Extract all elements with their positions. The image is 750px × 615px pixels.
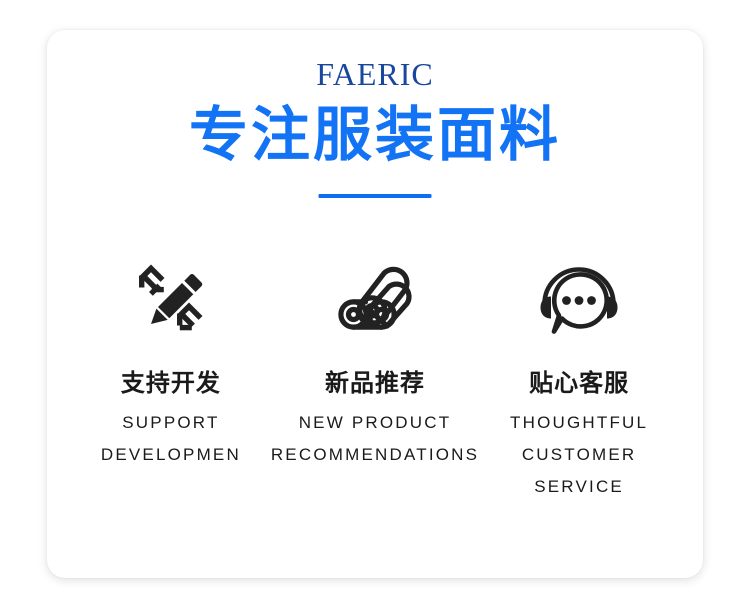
feature-title-en-line: DEVELOPMEN [101,439,241,471]
feature-title-cn: 新品推荐 [325,368,425,398]
feature-title-en-line: THOUGHTFUL [510,407,648,439]
pencil-ruler-icon [125,250,217,342]
promo-card: FAERIC 专注服装面料 [47,30,703,578]
fabric-rolls-icon [329,250,421,342]
feature-title-en: THOUGHTFUL CUSTOMER SERVICE [510,407,648,503]
feature-item-support-development: 支持开发 SUPPORT DEVELOPMEN [71,250,271,471]
feature-title-en: NEW PRODUCT RECOMMENDATIONS [271,407,479,471]
feature-title-en-line: NEW PRODUCT [271,407,479,439]
headset-chat-icon [533,250,625,342]
feature-title-en-line: SERVICE [510,471,648,503]
feature-title-en-line: RECOMMENDATIONS [271,439,479,471]
brand-name: FAERIC [47,55,703,93]
feature-item-new-product: 新品推荐 NEW PRODUCT RECOMMENDATIONS [271,250,479,471]
promo-banner: FAERIC 专注服装面料 [0,0,750,615]
feature-title-en-line: CUSTOMER [510,439,648,471]
title-divider [319,194,432,198]
feature-title-cn: 贴心客服 [529,368,629,398]
feature-item-customer-service: 贴心客服 THOUGHTFUL CUSTOMER SERVICE [479,250,679,503]
feature-title-en-line: SUPPORT [101,407,241,439]
feature-title-cn: 支持开发 [121,368,221,398]
page-title: 专注服装面料 [47,100,703,170]
feature-title-en: SUPPORT DEVELOPMEN [101,407,241,471]
feature-list: 支持开发 SUPPORT DEVELOPMEN [47,250,703,503]
